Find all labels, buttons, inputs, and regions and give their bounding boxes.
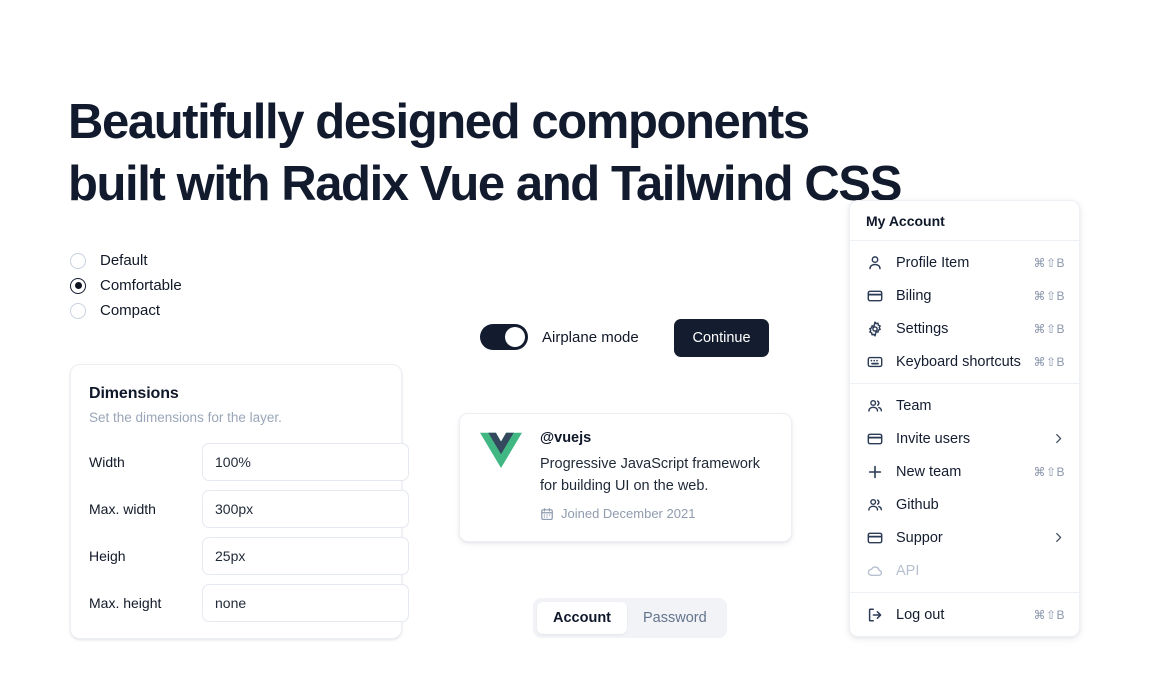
menu-item-label: Biling — [896, 288, 931, 304]
radio-label: Comfortable — [100, 278, 182, 293]
vue-description: Progressive JavaScript framework for bui… — [540, 453, 773, 497]
airplane-mode-switch[interactable] — [480, 324, 528, 350]
radio-group: Default Comfortable Compact — [70, 248, 182, 323]
menu-item-new-team[interactable]: New team ⌘⇧B — [850, 455, 1079, 488]
radio-circle-icon — [70, 303, 86, 319]
menu-item-billing[interactable]: Biling ⌘⇧B — [850, 279, 1079, 312]
radio-label: Default — [100, 253, 148, 268]
radio-option-compact[interactable]: Compact — [70, 298, 182, 323]
vue-logo-icon — [480, 432, 522, 470]
menu-item-settings[interactable]: Settings ⌘⇧B — [850, 312, 1079, 345]
menu-item-label: Suppor — [896, 530, 943, 546]
switch-knob — [505, 327, 525, 347]
radio-option-comfortable[interactable]: Comfortable — [70, 273, 182, 298]
users-icon — [866, 496, 883, 513]
menu-item-label: Invite users — [896, 431, 970, 447]
menu-header-label: My Account — [850, 201, 1079, 240]
max-width-input[interactable] — [202, 490, 409, 528]
users-icon — [866, 397, 883, 414]
tabs: Account Password — [533, 598, 727, 638]
menu-item-label: Settings — [896, 321, 948, 337]
radio-label: Compact — [100, 303, 160, 318]
menu-item-invite-users[interactable]: Invite users — [850, 422, 1079, 455]
airplane-mode-label: Airplane mode — [542, 329, 639, 346]
chevron-right-icon — [1052, 432, 1065, 445]
menu-item-shortcut: ⌘⇧B — [1033, 465, 1065, 479]
menu-item-shortcut: ⌘⇧B — [1033, 289, 1065, 303]
max-height-input[interactable] — [202, 584, 409, 622]
gear-icon — [866, 320, 883, 337]
radio-option-default[interactable]: Default — [70, 248, 182, 273]
chevron-right-icon — [1052, 531, 1065, 544]
menu-item-github[interactable]: Github — [850, 488, 1079, 521]
vue-hover-card: @vuejs Progressive JavaScript framework … — [459, 413, 792, 542]
joined-row: Joined December 2021 — [540, 506, 773, 521]
field-row-max-width: Max. width — [89, 490, 383, 528]
cloud-icon — [866, 562, 883, 579]
menu-group-account: Profile Item ⌘⇧B Biling ⌘⇧B — [850, 241, 1079, 383]
menu-item-label: API — [896, 563, 919, 579]
menu-item-shortcut: ⌘⇧B — [1033, 608, 1065, 622]
airplane-mode-row: Airplane mode — [480, 324, 639, 350]
dimensions-fields: Width Max. width Heigh Max. height — [89, 443, 383, 622]
credit-card-icon — [866, 529, 883, 546]
menu-item-label: Log out — [896, 607, 944, 623]
field-label: Width — [89, 454, 202, 470]
width-input[interactable] — [202, 443, 409, 481]
menu-item-label: Team — [896, 398, 931, 414]
menu-item-label: Keyboard shortcuts — [896, 354, 1021, 370]
menu-group-session: Log out ⌘⇧B — [850, 593, 1079, 636]
credit-card-icon — [866, 287, 883, 304]
field-label: Max. height — [89, 595, 202, 611]
plus-icon — [866, 463, 883, 480]
field-row-max-height: Max. height — [89, 584, 383, 622]
tab-account[interactable]: Account — [537, 602, 627, 634]
menu-item-shortcut: ⌘⇧B — [1033, 256, 1065, 270]
logout-icon — [866, 606, 883, 623]
field-label: Max. width — [89, 501, 202, 517]
menu-item-support[interactable]: Suppor — [850, 521, 1079, 554]
field-label: Heigh — [89, 548, 202, 564]
menu-item-label: Profile Item — [896, 255, 969, 271]
dimensions-title: Dimensions — [89, 385, 383, 403]
continue-button[interactable]: Continue — [674, 319, 769, 357]
menu-item-label: Github — [896, 497, 939, 513]
keyboard-icon — [866, 353, 883, 370]
page-root: Beautifully designed components built wi… — [0, 0, 1152, 700]
dimensions-subtitle: Set the dimensions for the layer. — [89, 410, 383, 425]
menu-item-log-out[interactable]: Log out ⌘⇧B — [850, 598, 1079, 631]
field-row-width: Width — [89, 443, 383, 481]
joined-text: Joined December 2021 — [561, 506, 695, 521]
menu-item-team[interactable]: Team — [850, 389, 1079, 422]
calendar-icon — [540, 507, 554, 521]
credit-card-icon — [866, 430, 883, 447]
radio-circle-icon — [70, 278, 86, 294]
tab-password[interactable]: Password — [627, 602, 723, 634]
dimensions-card: Dimensions Set the dimensions for the la… — [70, 364, 402, 639]
radio-circle-icon — [70, 253, 86, 269]
menu-item-keyboard-shortcuts[interactable]: Keyboard shortcuts ⌘⇧B — [850, 345, 1079, 378]
menu-item-profile[interactable]: Profile Item ⌘⇧B — [850, 246, 1079, 279]
hover-card-body: @vuejs Progressive JavaScript framework … — [540, 430, 773, 541]
height-input[interactable] — [202, 537, 409, 575]
account-dropdown-menu: My Account Profile Item ⌘⇧B Biling — [849, 200, 1080, 637]
vue-handle: @vuejs — [540, 430, 773, 446]
menu-item-shortcut: ⌘⇧B — [1033, 322, 1065, 336]
page-title: Beautifully designed components built wi… — [68, 91, 1028, 215]
menu-group-team: Team Invite users New team ⌘⇧B — [850, 384, 1079, 592]
menu-item-label: New team — [896, 464, 961, 480]
field-row-height: Heigh — [89, 537, 383, 575]
user-icon — [866, 254, 883, 271]
menu-item-shortcut: ⌘⇧B — [1033, 355, 1065, 369]
menu-item-api: API — [850, 554, 1079, 587]
